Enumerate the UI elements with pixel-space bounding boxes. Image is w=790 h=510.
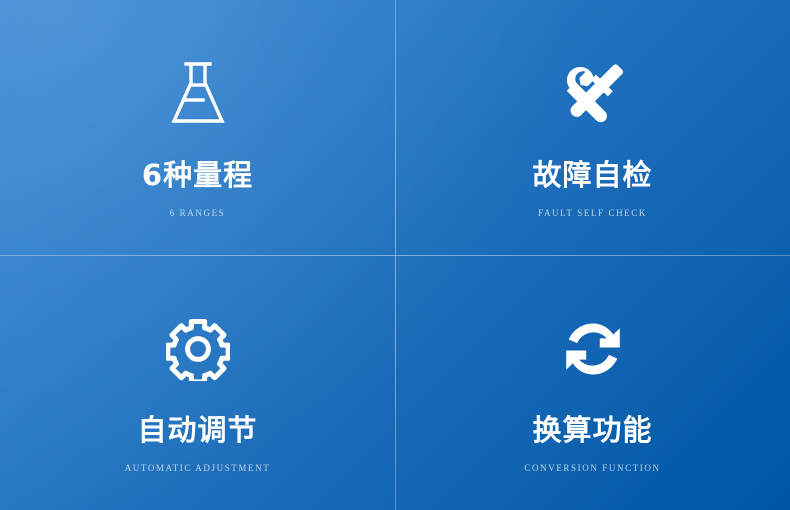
feature-subtitle: AUTOMATIC ADJUSTMENT (125, 463, 271, 473)
feature-title: 换算功能 (532, 415, 652, 447)
refresh-cycle-icon (555, 311, 631, 387)
feature-title: 6种量程 (142, 160, 253, 192)
feature-grid-banner: 6种量程 6 RANGES 故障自检 FAULT (0, 0, 790, 510)
flask-icon (160, 56, 236, 132)
feature-title: 自动调节 (137, 415, 257, 447)
feature-title: 故障自检 (532, 160, 652, 192)
feature-cell-automatic-adjustment[interactable]: 自动调节 AUTOMATIC ADJUSTMENT (0, 255, 395, 510)
gear-icon (160, 311, 236, 387)
feature-cell-fault-self-check[interactable]: 故障自检 FAULT SELF CHECK (395, 0, 790, 255)
wrench-screwdriver-icon (555, 56, 631, 132)
feature-grid: 6种量程 6 RANGES 故障自检 FAULT (0, 0, 790, 510)
feature-cell-ranges[interactable]: 6种量程 6 RANGES (0, 0, 395, 255)
feature-subtitle: FAULT SELF CHECK (538, 208, 647, 218)
feature-subtitle: CONVERSION FUNCTION (524, 463, 660, 473)
feature-cell-conversion-function[interactable]: 换算功能 CONVERSION FUNCTION (395, 255, 790, 510)
feature-subtitle: 6 RANGES (170, 208, 226, 218)
